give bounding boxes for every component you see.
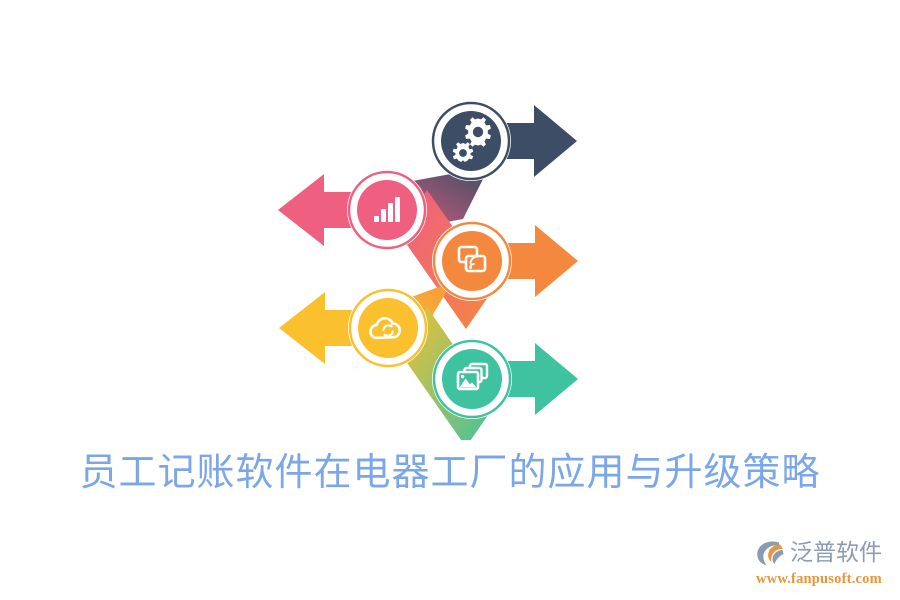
- node-cloud-sync-disc: [358, 298, 418, 358]
- node-screen-cast[interactable]: [432, 221, 512, 301]
- node-gears[interactable]: [431, 101, 511, 181]
- node-gallery[interactable]: [432, 339, 512, 419]
- node-bar-chart[interactable]: [347, 170, 427, 250]
- node-bar-chart-disc: [357, 180, 417, 240]
- brand-row: 泛普软件: [754, 536, 882, 570]
- infographic-diagram: [0, 0, 900, 440]
- brand-url: www.fanpusoft.com: [756, 570, 882, 588]
- fanpu-logo-mark-icon: [754, 538, 786, 568]
- brand-watermark: 泛普软件 www.fanpusoft.com: [754, 534, 886, 592]
- page-title: 员工记账软件在电器工厂的应用与升级策略: [0, 444, 900, 500]
- brand-name: 泛普软件: [790, 538, 882, 568]
- node-cloud-sync[interactable]: [348, 288, 428, 368]
- infographic-canvas: [0, 0, 900, 440]
